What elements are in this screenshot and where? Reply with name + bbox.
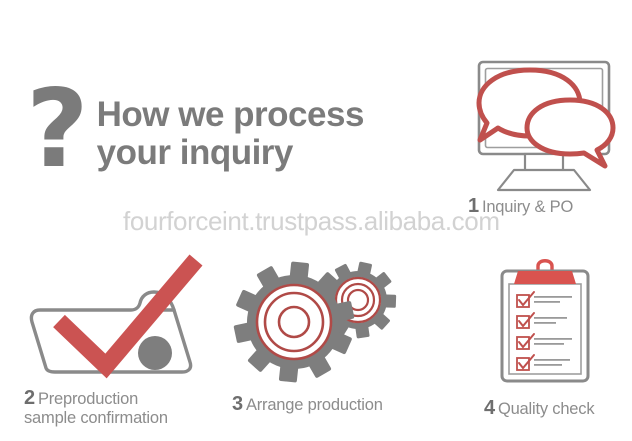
- gears-icon: [232, 258, 412, 384]
- step-number-2: 2: [24, 387, 35, 409]
- step-item-2: 2Preproduction sample confirmation: [24, 258, 214, 427]
- step-text-2: Preproduction: [38, 390, 138, 408]
- clipboard-checklist-icon: [484, 254, 606, 386]
- step-number-1: 1: [468, 195, 479, 217]
- headline-line-1: How we process: [97, 95, 364, 134]
- watermark-text: fourforceint.trustpass.alibaba.com: [123, 206, 500, 237]
- question-mark-icon: ?: [26, 88, 87, 172]
- step-label-1: 1Inquiry & PO: [468, 196, 620, 218]
- monitor-speech-bubbles-icon: [468, 58, 620, 192]
- step-item-3: 3Arrange production: [232, 258, 412, 416]
- step-text-3: Arrange production: [246, 396, 383, 414]
- step-number-4: 4: [484, 397, 495, 419]
- step-label-3: 3Arrange production: [232, 394, 412, 416]
- step-number-3: 3: [232, 393, 243, 415]
- step-text-1: Inquiry & PO: [482, 198, 573, 216]
- step-item-1: 1Inquiry & PO: [468, 58, 620, 218]
- page-title: ? How we process your inquiry: [26, 92, 364, 172]
- headline-text: How we process your inquiry: [97, 92, 364, 172]
- headline-line-2: your inquiry: [97, 134, 364, 172]
- step-label-4: 4Quality check: [484, 398, 606, 420]
- step-text-2-line2: sample confirmation: [24, 410, 214, 428]
- step-text-4: Quality check: [498, 400, 594, 418]
- document-checkmark-icon: [24, 258, 214, 380]
- infographic-canvas: ? How we process your inquiry fourforcei…: [0, 0, 632, 441]
- step-item-4: 4Quality check: [484, 254, 606, 420]
- step-label-2: 2Preproduction sample confirmation: [24, 388, 214, 427]
